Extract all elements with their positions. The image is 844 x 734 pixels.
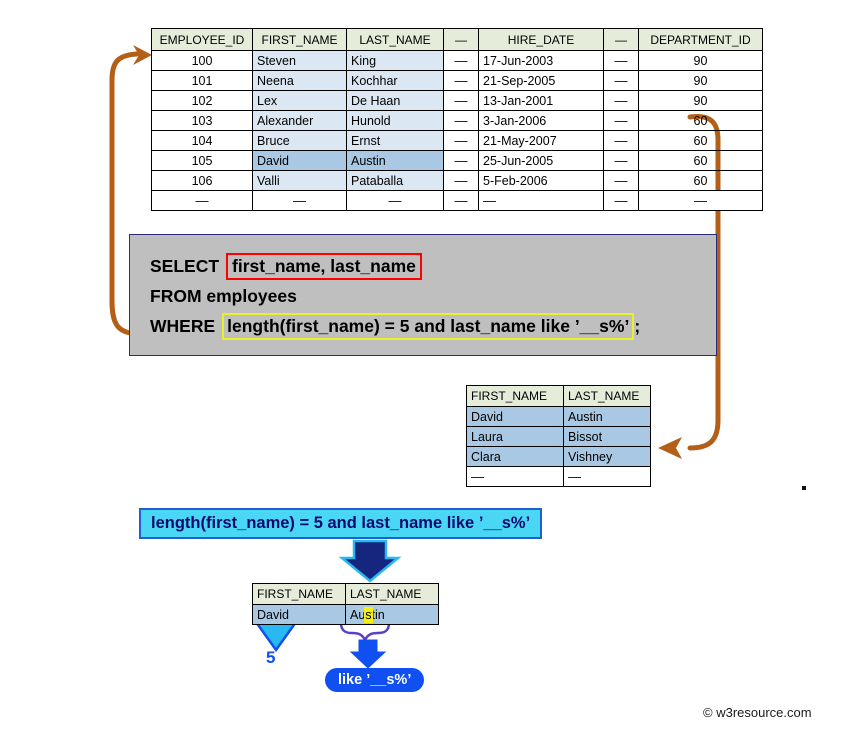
cell-department-id: 60 <box>639 111 763 131</box>
column-header-elided-1: — <box>444 29 479 51</box>
cell-last-name: Pataballa <box>347 171 444 191</box>
cell-continuation-elided-1: — <box>444 191 479 211</box>
sql-keyword-where: WHERE <box>150 311 215 341</box>
cell-first-name: Lex <box>253 91 347 111</box>
cell-department-id: 90 <box>639 51 763 71</box>
condition-banner-text: length(first_name) = 5 and last_name lik… <box>151 514 530 533</box>
table-row: 106 Valli Pataballa — 5-Feb-2006 — 60 <box>152 171 763 191</box>
cell-continuation-elided-2: — <box>604 191 639 211</box>
cell-elided-2: — <box>604 91 639 111</box>
brace-like <box>341 623 389 640</box>
result-row: Laura Bissot <box>467 427 651 447</box>
cell-elided-2: — <box>604 171 639 191</box>
cell-hire-date: 25-Jun-2005 <box>479 151 604 171</box>
example-column-header-last-name: LAST_NAME <box>346 584 439 605</box>
cell-department-id: 60 <box>639 131 763 151</box>
copyright-symbol: © <box>703 705 713 720</box>
cell-elided-2: — <box>604 151 639 171</box>
cell-department-id: 90 <box>639 91 763 111</box>
sql-keyword-select: SELECT <box>150 251 219 281</box>
column-header-hire-date: HIRE_DATE <box>479 29 604 51</box>
column-header-department-id: DEPARTMENT_ID <box>639 29 763 51</box>
cell-last-name: Kochhar <box>347 71 444 91</box>
result-row: David Austin <box>467 407 651 427</box>
result-cell-first-name: Laura <box>467 427 564 447</box>
cell-last-name: Ernst <box>347 131 444 151</box>
cell-continuation-department-id: — <box>639 191 763 211</box>
cell-elided-2: — <box>604 51 639 71</box>
cell-employee-id: 106 <box>152 171 253 191</box>
cell-elided-2: — <box>604 131 639 151</box>
cell-employee-id: 105 <box>152 151 253 171</box>
result-cell-last-name: Austin <box>564 407 651 427</box>
column-header-last-name: LAST_NAME <box>347 29 444 51</box>
cell-first-name: Alexander <box>253 111 347 131</box>
condition-banner: length(first_name) = 5 and last_name lik… <box>139 508 542 539</box>
arrow-head-left <box>133 45 152 65</box>
arrow-head-right <box>658 437 682 459</box>
cell-employee-id: 102 <box>152 91 253 111</box>
cell-department-id: 90 <box>639 71 763 91</box>
cell-last-name: De Haan <box>347 91 444 111</box>
table-row: 101 Neena Kochhar — 21-Sep-2005 — 90 <box>152 71 763 91</box>
sql-statement-terminator: ; <box>634 311 640 341</box>
cell-first-name: Steven <box>253 51 347 71</box>
result-column-header-first-name: FIRST_NAME <box>467 386 564 407</box>
cell-hire-date: 13-Jan-2001 <box>479 91 604 111</box>
cell-last-name: Austin <box>347 151 444 171</box>
cell-elided-1: — <box>444 71 479 91</box>
cell-first-name: Neena <box>253 71 347 91</box>
result-cell-continuation-last-name: — <box>564 467 651 487</box>
result-cell-last-name: Bissot <box>564 427 651 447</box>
cell-elided-1: — <box>444 171 479 191</box>
cell-elided-2: — <box>604 111 639 131</box>
result-cell-first-name: Clara <box>467 447 564 467</box>
example-column-header-first-name: FIRST_NAME <box>253 584 346 605</box>
cell-first-name: David <box>253 151 347 171</box>
result-cell-last-name: Vishney <box>564 447 651 467</box>
watermark-text: w3resource.com <box>716 705 811 720</box>
example-last-name-prefix: Au <box>350 608 365 622</box>
cell-hire-date: 3-Jan-2006 <box>479 111 604 131</box>
table-continuation-row: — — — — — — — <box>152 191 763 211</box>
cell-elided-2: — <box>604 71 639 91</box>
example-header-row: FIRST_NAME LAST_NAME <box>253 584 439 605</box>
example-row: David Austin <box>253 605 439 625</box>
cell-elided-1: — <box>444 51 479 71</box>
cell-employee-id: 104 <box>152 131 253 151</box>
length-value-label: 5 <box>266 648 275 668</box>
column-header-elided-2: — <box>604 29 639 51</box>
cell-elided-1: — <box>444 111 479 131</box>
cell-elided-1: — <box>444 91 479 111</box>
cell-last-name: Hunold <box>347 111 444 131</box>
cell-employee-id: 101 <box>152 71 253 91</box>
sql-line-select: SELECT first_name, last_name <box>150 251 716 281</box>
table-row-highlighted: 105 David Austin — 25-Jun-2005 — 60 <box>152 151 763 171</box>
sql-query-box: SELECT first_name, last_name FROM employ… <box>129 234 717 356</box>
table-header-row: EMPLOYEE_ID FIRST_NAME LAST_NAME — HIRE_… <box>152 29 763 51</box>
example-last-name-suffix: tin <box>372 608 385 622</box>
cell-hire-date: 21-Sep-2005 <box>479 71 604 91</box>
sql-select-list-highlight: first_name, last_name <box>226 253 422 280</box>
cell-continuation-first-name: — <box>253 191 347 211</box>
cell-continuation-employee-id: — <box>152 191 253 211</box>
cell-first-name: Valli <box>253 171 347 191</box>
sql-line-where: WHERE length(first_name) = 5 and last_na… <box>150 311 716 341</box>
table-row: 104 Bruce Ernst — 21-May-2007 — 60 <box>152 131 763 151</box>
column-header-employee-id: EMPLOYEE_ID <box>152 29 253 51</box>
cell-first-name: Bruce <box>253 131 347 151</box>
cell-elided-1: — <box>444 131 479 151</box>
cell-continuation-last-name: — <box>347 191 444 211</box>
employees-table: EMPLOYEE_ID FIRST_NAME LAST_NAME — HIRE_… <box>151 28 763 211</box>
cell-department-id: 60 <box>639 151 763 171</box>
example-table: FIRST_NAME LAST_NAME David Austin <box>252 583 439 625</box>
table-row: 100 Steven King — 17-Jun-2003 — 90 <box>152 51 763 71</box>
result-cell-continuation-first-name: — <box>467 467 564 487</box>
cell-hire-date: 21-May-2007 <box>479 131 604 151</box>
like-pattern-pill: like ’__s%’ <box>325 668 424 692</box>
example-cell-first-name: David <box>253 605 346 625</box>
diagram-canvas: EMPLOYEE_ID FIRST_NAME LAST_NAME — HIRE_… <box>0 0 844 734</box>
example-cell-last-name: Austin <box>346 605 439 625</box>
cell-last-name: King <box>347 51 444 71</box>
table-row: 103 Alexander Hunold — 3-Jan-2006 — 60 <box>152 111 763 131</box>
decorative-dot <box>802 486 806 490</box>
table-row: 102 Lex De Haan — 13-Jan-2001 — 90 <box>152 91 763 111</box>
arrow-cyan-length <box>256 622 296 650</box>
result-table: FIRST_NAME LAST_NAME David Austin Laura … <box>466 385 651 487</box>
arrow-navy-down <box>342 541 398 581</box>
cell-elided-1: — <box>444 151 479 171</box>
cell-hire-date: 17-Jun-2003 <box>479 51 604 71</box>
result-row: Clara Vishney <box>467 447 651 467</box>
result-continuation-row: — — <box>467 467 651 487</box>
cell-employee-id: 100 <box>152 51 253 71</box>
arrow-blue-like <box>351 640 385 668</box>
cell-hire-date: 5-Feb-2006 <box>479 171 604 191</box>
sql-from-clause: FROM employees <box>150 281 297 311</box>
result-cell-first-name: David <box>467 407 564 427</box>
sql-where-condition-highlight: length(first_name) = 5 and last_name lik… <box>222 313 634 340</box>
sql-line-from: FROM employees <box>150 281 716 311</box>
cell-department-id: 60 <box>639 171 763 191</box>
watermark: © w3resource.com <box>703 705 812 720</box>
cell-employee-id: 103 <box>152 111 253 131</box>
column-header-first-name: FIRST_NAME <box>253 29 347 51</box>
result-header-row: FIRST_NAME LAST_NAME <box>467 386 651 407</box>
result-column-header-last-name: LAST_NAME <box>564 386 651 407</box>
cell-continuation-hire-date: — <box>479 191 604 211</box>
